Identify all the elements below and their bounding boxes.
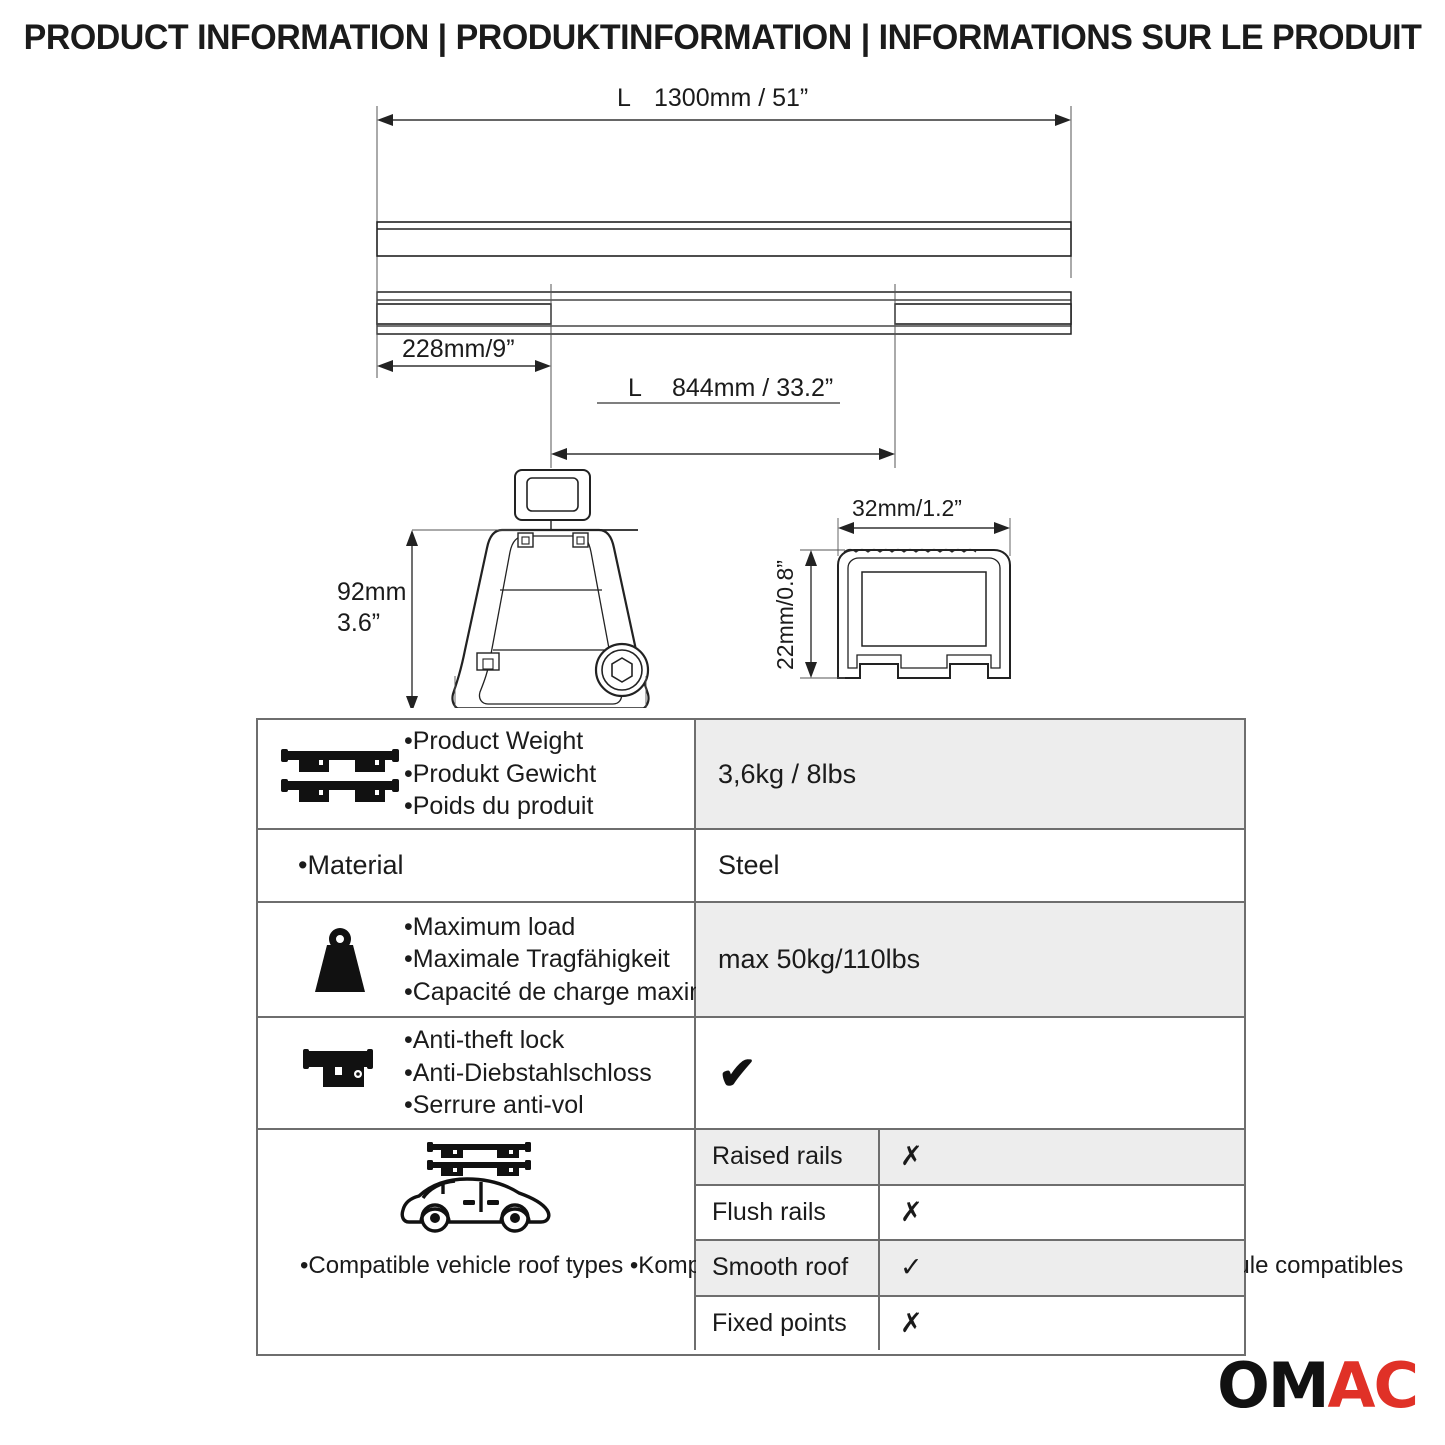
lock-icon: [276, 1045, 404, 1101]
label-line-en: •Compatible vehicle roof types: [300, 1252, 623, 1279]
dim-profile-width: 32mm/1.2”: [852, 495, 962, 521]
cross-icon: ✗: [880, 1297, 1244, 1351]
row-label-roof-types: •Compatible vehicle roof types •Kompatib…: [258, 1130, 696, 1350]
row-label-maximum-load: •Maximum load •Maximale Tragfähigkeit •C…: [258, 903, 696, 1016]
label-text-product-weight: •Product Weight •Produkt Gewicht •Poids …: [404, 725, 596, 823]
table-row-product-weight: •Product Weight •Produkt Gewicht •Poids …: [258, 720, 1244, 830]
row-label-material: •Material: [258, 830, 696, 901]
value-product-weight: 3,6kg / 8lbs: [696, 720, 1244, 828]
dim-inner-length-value: 844mm / 33.2”: [672, 374, 833, 402]
car-with-roof-bars-icon: [393, 1136, 559, 1245]
technical-drawing: L 1300mm / 51” 228mm/9” L 844mm / 33.2” …: [0, 78, 1445, 708]
roof-type-row-raised-rails: Raised rails ✗: [696, 1130, 1244, 1186]
logo-text-ac: AC: [1328, 1349, 1417, 1422]
header: PRODUCT INFORMATION | PRODUKTINFORMATION…: [0, 18, 1445, 58]
label-line-de: •Maximale Tragfähigkeit: [404, 943, 743, 976]
label-line-en: •Anti-theft lock: [404, 1024, 652, 1057]
value-material: Steel: [696, 830, 1244, 901]
label-text-roof-types: •Compatible vehicle roof types •Kompatib…: [258, 1251, 694, 1282]
dim-inner-length-prefix: L: [628, 374, 642, 402]
value-anti-theft-lock: ✔: [696, 1018, 1244, 1128]
roof-type-name: Smooth roof: [696, 1241, 880, 1295]
table-row-maximum-load: •Maximum load •Maximale Tragfähigkeit •C…: [258, 903, 1244, 1018]
row-label-product-weight: •Product Weight •Produkt Gewicht •Poids …: [258, 720, 696, 828]
label-line-en: •Maximum load: [404, 911, 743, 944]
cross-icon: ✗: [880, 1186, 1244, 1240]
dim-foot-height-in: 3.6”: [337, 609, 380, 637]
page-title: PRODUCT INFORMATION | PRODUKTINFORMATION…: [22, 18, 1424, 58]
checkmark-icon: ✔: [718, 1050, 757, 1096]
label-line-fr: •Serrure anti-vol: [404, 1089, 652, 1122]
product-information-sheet: PRODUCT INFORMATION | PRODUKTINFORMATION…: [0, 0, 1445, 1445]
two-crossbars-icon: [276, 743, 404, 805]
label-line-fr-cont: compatibles: [1275, 1252, 1403, 1279]
label-line-en: •Product Weight: [404, 725, 596, 758]
specifications-table: •Product Weight •Produkt Gewicht •Poids …: [256, 718, 1246, 1356]
label-text-material: •Material: [298, 848, 403, 883]
row-label-anti-theft-lock: •Anti-theft lock •Anti-Diebstahlschloss …: [258, 1018, 696, 1128]
label-line-fr: •Poids du produit: [404, 790, 596, 823]
roof-type-name: Fixed points: [696, 1297, 880, 1351]
label-line-de: •Produkt Gewicht: [404, 758, 596, 791]
roof-type-row-flush-rails: Flush rails ✗: [696, 1186, 1244, 1242]
label-text-anti-theft-lock: •Anti-theft lock •Anti-Diebstahlschloss …: [404, 1024, 652, 1122]
logo-text-om: OM: [1217, 1349, 1327, 1422]
label-line-fr: •Capacité de charge maximale: [404, 976, 743, 1009]
cross-icon: ✗: [880, 1130, 1244, 1184]
roof-type-row-fixed-points: Fixed points ✗: [696, 1297, 1244, 1351]
checkmark-icon: ✓: [880, 1241, 1244, 1295]
dim-foot-height-mm: 92mm: [337, 578, 406, 606]
roof-type-name: Raised rails: [696, 1130, 880, 1184]
weight-icon: [276, 924, 404, 996]
table-row-anti-theft-lock: •Anti-theft lock •Anti-Diebstahlschloss …: [258, 1018, 1244, 1130]
label-line-en: •Material: [298, 848, 403, 883]
roof-type-row-smooth-roof: Smooth roof ✓: [696, 1241, 1244, 1297]
label-line-de: •Anti-Diebstahlschloss: [404, 1057, 652, 1090]
table-row-roof-types: •Compatible vehicle roof types •Kompatib…: [258, 1130, 1244, 1350]
omac-logo: OMAC: [1217, 1355, 1417, 1417]
roof-type-name: Flush rails: [696, 1186, 880, 1240]
dim-end-offset: 228mm/9”: [402, 335, 515, 363]
value-maximum-load: max 50kg/110lbs: [696, 903, 1244, 1016]
table-row-material: •Material Steel: [258, 830, 1244, 903]
dim-bar-length-prefix: L: [617, 84, 631, 112]
dim-bar-length-value: 1300mm / 51”: [654, 84, 808, 112]
label-text-maximum-load: •Maximum load •Maximale Tragfähigkeit •C…: [404, 911, 743, 1009]
roof-types-subtable: Raised rails ✗ Flush rails ✗ Smooth roof…: [696, 1130, 1244, 1350]
dim-profile-height: 22mm/0.8”: [772, 560, 798, 670]
